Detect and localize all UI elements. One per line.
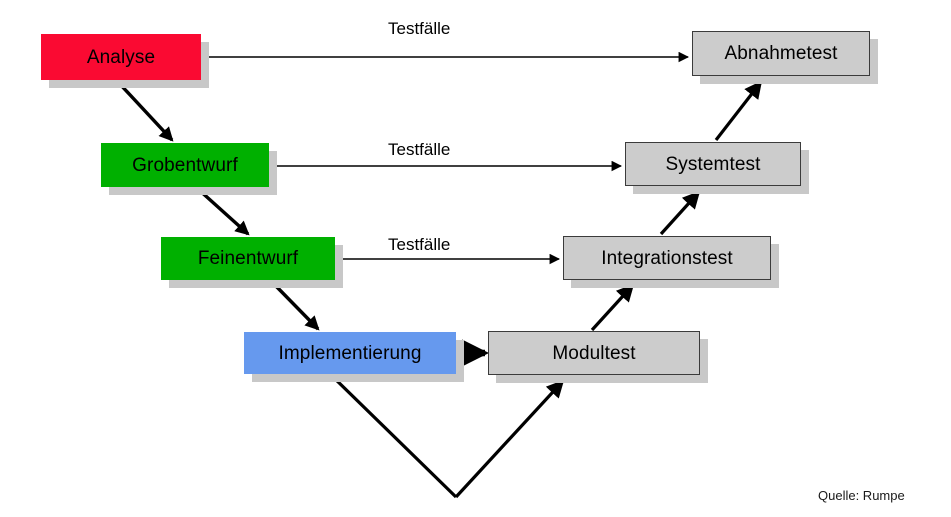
source-note: Quelle: Rumpe <box>818 488 905 503</box>
edge-v-left-leg <box>329 373 456 497</box>
node-modultest-label: Modultest <box>552 344 635 363</box>
node-grobentwurf-label: Grobentwurf <box>132 156 238 175</box>
node-feinentwurf-label: Feinentwurf <box>198 249 298 268</box>
node-implementierung[interactable]: Implementierung <box>244 332 456 374</box>
edge-v-right-leg <box>456 381 563 497</box>
edge-modultest-to-integrationstest <box>592 285 633 330</box>
edge-label-testfaelle-2: Testfälle <box>388 140 450 160</box>
node-analyse[interactable]: Analyse <box>41 34 201 80</box>
edge-label-testfaelle-1: Testfälle <box>388 19 450 39</box>
v-model-diagram: Analyse Grobentwurf Feinentwurf Implemen… <box>0 0 951 517</box>
edge-grobentwurf-to-feinentwurf <box>198 189 248 234</box>
node-analyse-label: Analyse <box>87 48 155 67</box>
node-abnahmetest[interactable]: Abnahmetest <box>692 31 870 76</box>
node-abnahmetest-label: Abnahmetest <box>724 44 837 63</box>
edge-label-testfaelle-3: Testfälle <box>388 235 450 255</box>
node-grobentwurf[interactable]: Grobentwurf <box>101 143 269 187</box>
edge-integrationstest-to-systemtest <box>661 192 699 234</box>
node-modultest[interactable]: Modultest <box>488 331 700 375</box>
edge-systemtest-to-abnahmetest <box>716 82 761 140</box>
node-implementierung-label: Implementierung <box>278 344 421 363</box>
node-feinentwurf[interactable]: Feinentwurf <box>161 237 335 280</box>
edge-analyse-to-grobentwurf <box>118 82 172 140</box>
node-systemtest[interactable]: Systemtest <box>625 142 801 186</box>
node-integrationstest-label: Integrationstest <box>601 249 733 268</box>
node-systemtest-label: Systemtest <box>666 155 761 174</box>
node-integrationstest[interactable]: Integrationstest <box>563 236 771 280</box>
edge-feinentwurf-to-implementierung <box>272 282 318 329</box>
